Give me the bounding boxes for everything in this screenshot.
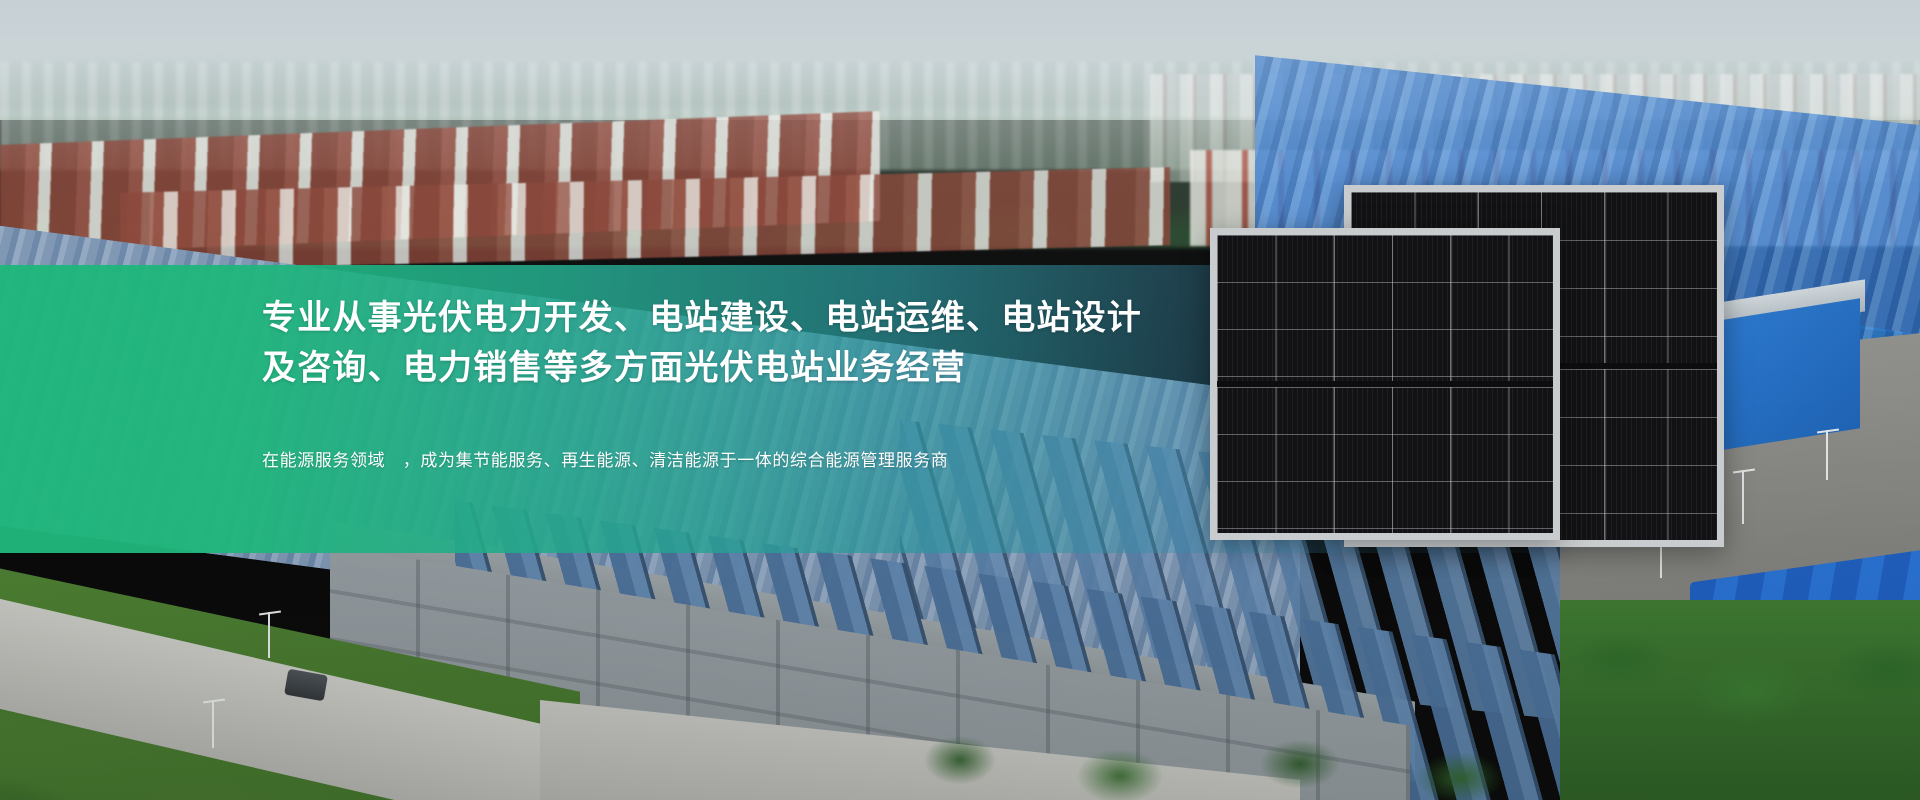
solar-panel-module-front <box>1210 228 1560 540</box>
shrubs-right-foreground <box>1560 600 1920 800</box>
banner-text-block: 专业从事光伏电力开发、电站建设、电站运维、电站设计 及咨询、电力销售等多方面光伏… <box>262 265 1362 475</box>
street-lamp-1 <box>1742 470 1744 524</box>
banner-subheadline: 在能源服务领域 ，成为集节能服务、再生能源、清洁能源于一体的综合能源管理服务商 <box>262 447 1362 475</box>
street-lamp-2 <box>1826 430 1828 480</box>
street-lamp-5 <box>212 700 214 748</box>
street-lamp-4 <box>268 612 270 658</box>
panel-glass-front <box>1217 235 1553 533</box>
trees-foreground-mid <box>900 690 1600 800</box>
hero-banner: 专业从事光伏电力开发、电站建设、电站运维、电站设计 及咨询、电力销售等多方面光伏… <box>0 0 1920 800</box>
banner-headline: 专业从事光伏电力开发、电站建设、电站运维、电站设计 及咨询、电力销售等多方面光伏… <box>262 293 1362 393</box>
panel-cell-half-bottom-front <box>1217 387 1553 533</box>
panel-cell-half-top-front <box>1217 235 1553 381</box>
